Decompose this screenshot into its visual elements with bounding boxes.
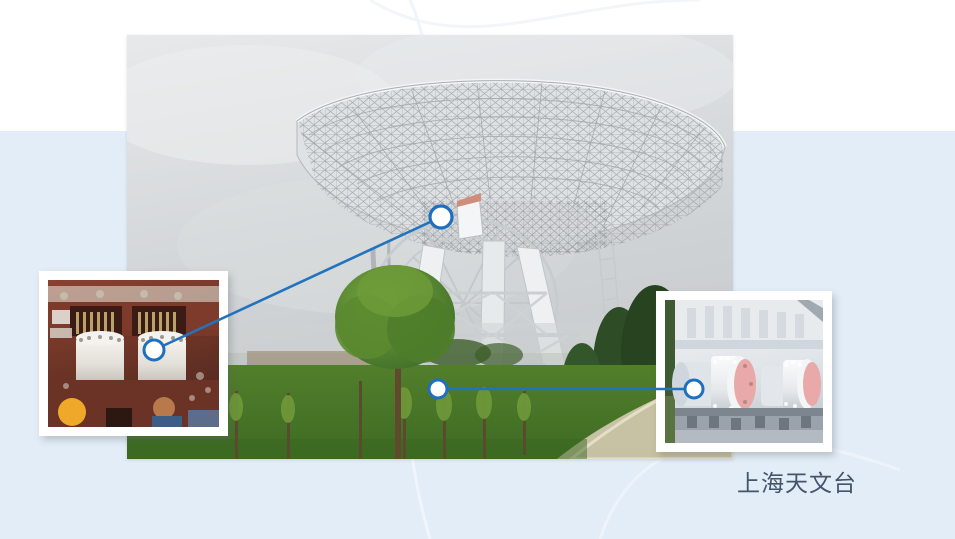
slide-canvas: 上海天文台 — [0, 0, 955, 539]
right-inset-frame — [656, 291, 832, 452]
observatory-caption: 上海天文台 — [737, 470, 857, 498]
left-inset-frame — [39, 271, 228, 436]
left-inset-photo — [48, 280, 219, 427]
right-inset-photo — [665, 300, 823, 443]
